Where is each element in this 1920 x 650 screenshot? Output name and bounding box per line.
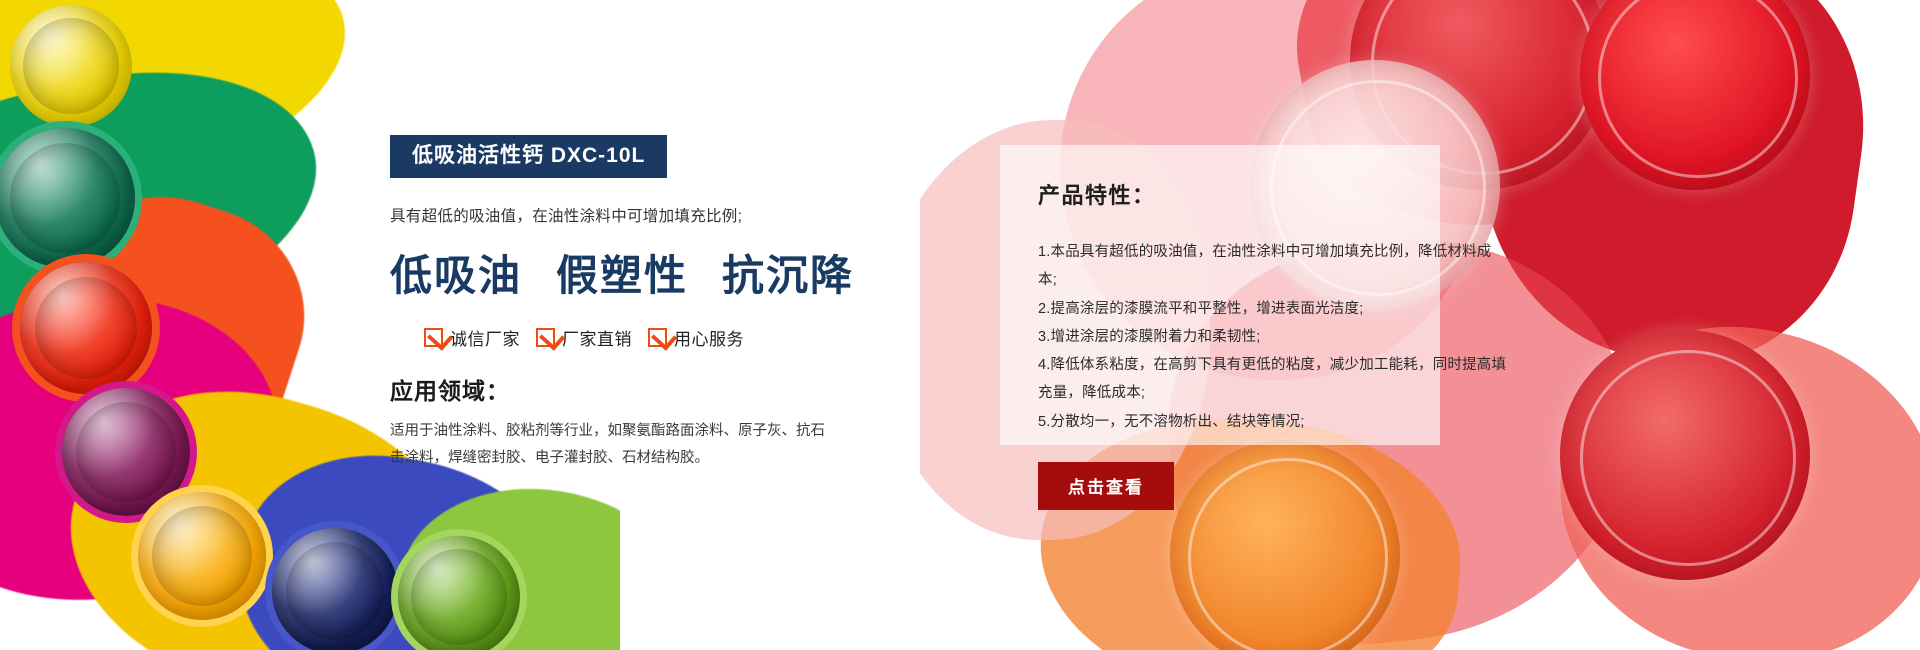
panel-list-item: 3.增进涂层的漆膜附着力和柔韧性; [1038, 323, 1508, 351]
product-title-tag: 低吸油活性钙 DXC-10L [390, 135, 667, 178]
paint-can-yellow [10, 5, 132, 127]
panel-feature-list: 1.本品具有超低的吸油值，在油性涂料中可增加填充比例，降低材料成本; 2.提高涂… [1038, 238, 1558, 436]
right-content-block: 产品特性： 1.本品具有超低的吸油值，在油性涂料中可增加填充比例，降低材料成本;… [1038, 178, 1558, 510]
left-content-block: 低吸油活性钙 DXC-10L 具有超低的吸油值，在油性涂料中可增加填充比例; 低… [390, 135, 910, 472]
paint-can-amber [138, 492, 266, 620]
panel-list-item: 2.提高涂层的漆膜流平和平整性，增进表面光洁度; [1038, 295, 1508, 323]
feature-label-1: 诚信厂家 [450, 325, 520, 350]
panel-title: 产品特性： [1038, 178, 1558, 210]
product-subtitle: 具有超低的吸油值，在油性涂料中可增加填充比例; [390, 204, 910, 226]
paint-can-navy [272, 528, 398, 650]
headline-part-2: 假塑性 [556, 252, 688, 299]
panel-list-item: 4.降低体系粘度，在高剪下具有更低的粘度，减少加工能耗，同时提高填充量，降低成本… [1038, 351, 1508, 408]
product-banner: 低吸油活性钙 DXC-10L 具有超低的吸油值，在油性涂料中可增加填充比例; 低… [0, 0, 1920, 650]
paint-can-teal [0, 128, 135, 268]
view-details-button[interactable]: 点击查看 [1038, 462, 1174, 510]
panel-list-item: 1.本品具有超低的吸油值，在油性涂料中可增加填充比例，降低材料成本; [1038, 238, 1508, 295]
feature-item-3: 用心服务 [648, 325, 744, 350]
feature-label-2: 厂家直销 [562, 325, 632, 350]
trust-feature-row: 诚信厂家 厂家直销 用心服务 [390, 325, 910, 350]
headline-part-1: 低吸油 [390, 252, 522, 299]
checkbox-checked-icon [536, 328, 555, 347]
application-section-body: 适用于油性涂料、胶粘剂等行业，如聚氨酯路面涂料、原子灰、抗石击涂料，焊缝密封胶、… [390, 418, 825, 472]
application-section-title: 应用领域： [390, 372, 910, 406]
paint-can-red [20, 262, 152, 394]
paint-can-green [398, 536, 520, 650]
checkbox-checked-icon [648, 328, 667, 347]
feature-item-2: 厂家直销 [536, 325, 632, 350]
product-headline: 低吸油假塑性抗沉降 [390, 242, 910, 303]
paint-dish-red-bottom [1560, 330, 1810, 580]
headline-part-3: 抗沉降 [722, 252, 854, 299]
checkbox-checked-icon [424, 328, 443, 347]
paint-can-purple [62, 388, 190, 516]
feature-label-3: 用心服务 [674, 325, 744, 350]
panel-list-item: 5.分散均一，无不溶物析出、结块等情况; [1038, 408, 1508, 436]
feature-item-1: 诚信厂家 [424, 325, 520, 350]
